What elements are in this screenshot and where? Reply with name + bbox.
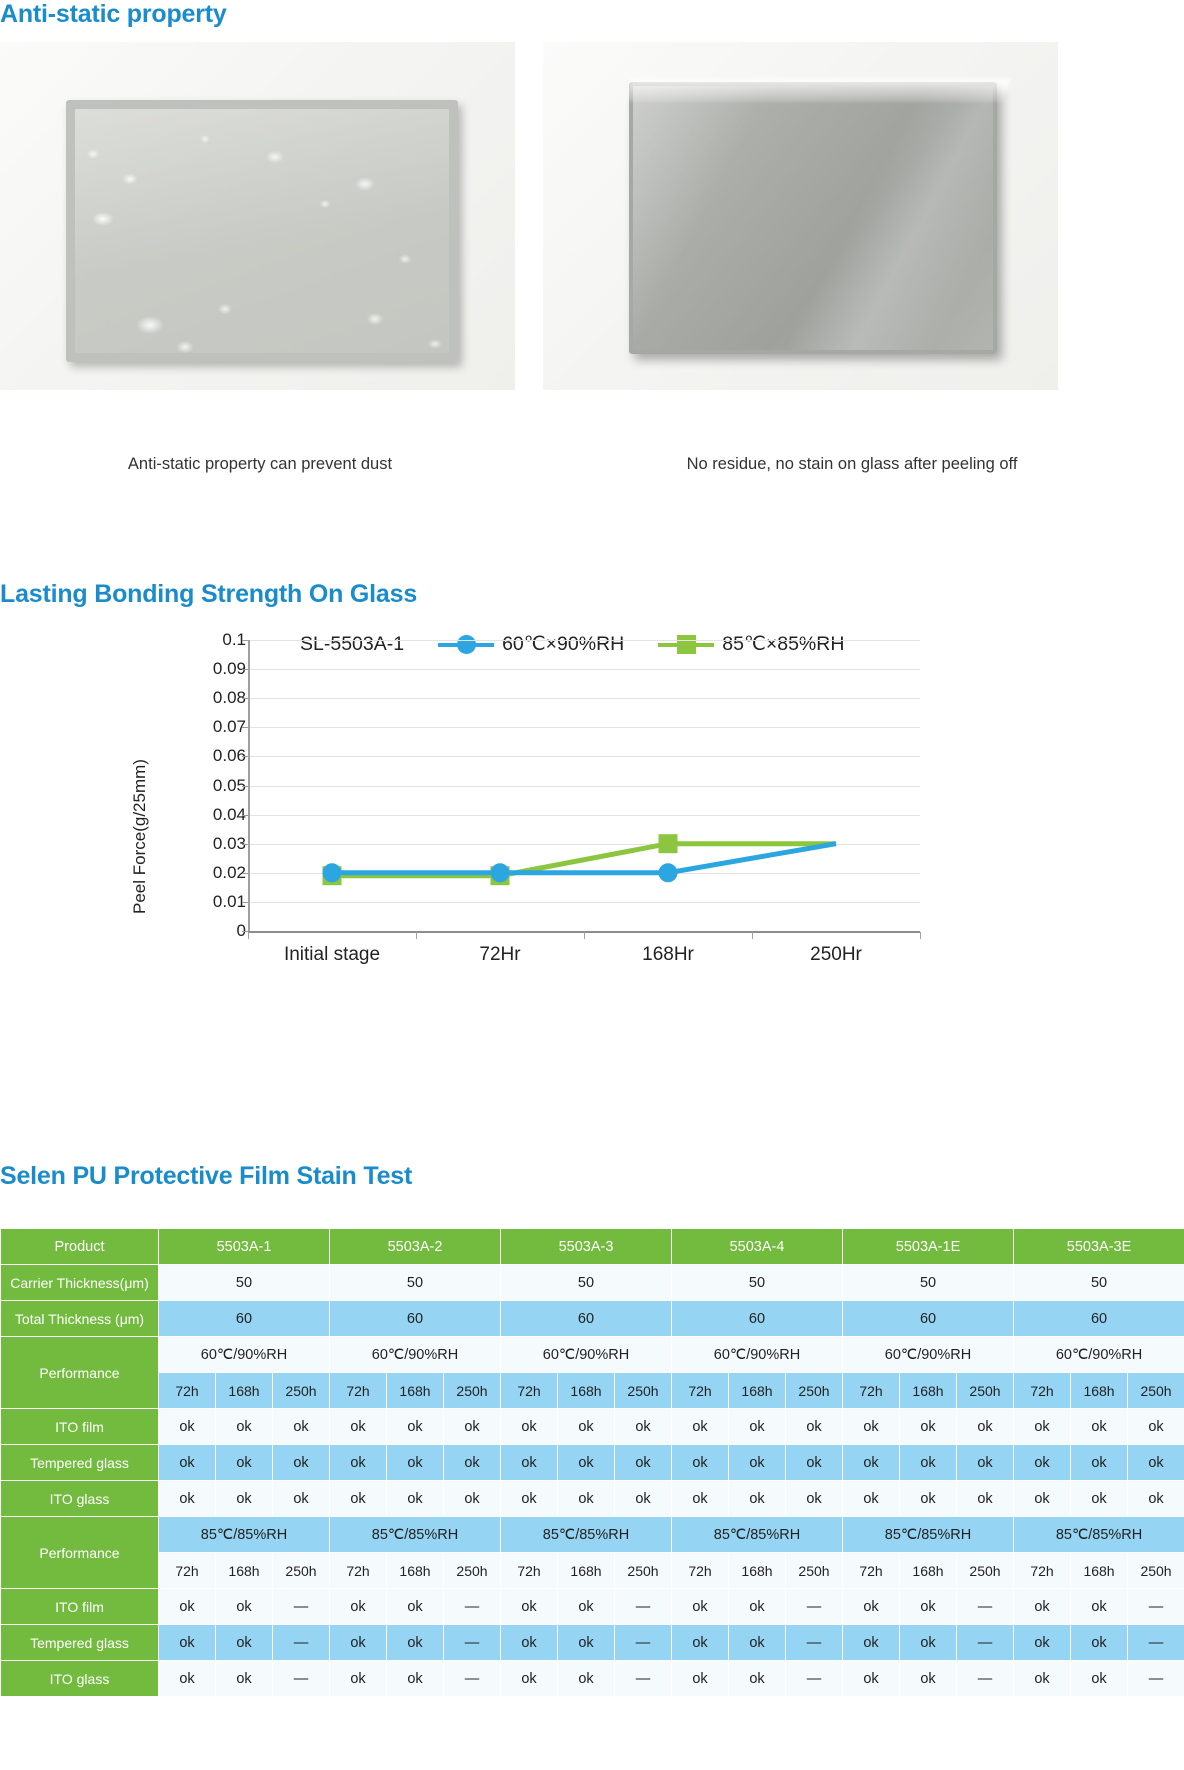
- result-cell: —: [1128, 1625, 1184, 1661]
- result-cell: ok: [159, 1589, 216, 1625]
- result-cell: —: [444, 1661, 501, 1697]
- row-label: ITO film: [1, 1589, 159, 1625]
- result-cell: ok: [615, 1445, 672, 1481]
- condition-cell: 60℃/90%RH: [501, 1337, 672, 1373]
- y-tick-label: 0: [160, 922, 246, 939]
- result-cell: —: [957, 1661, 1014, 1697]
- page-title-stain-test: Selen PU Protective Film Stain Test: [0, 1162, 412, 1191]
- caption-right: No residue, no stain on glass after peel…: [520, 455, 1184, 474]
- result-cell: ok: [558, 1625, 615, 1661]
- result-cell: ok: [1071, 1661, 1128, 1697]
- header-product-name: 5503A-3: [501, 1229, 672, 1265]
- time-header-cell: 72h: [1014, 1553, 1071, 1589]
- result-cell: ok: [786, 1445, 843, 1481]
- result-cell: ok: [387, 1481, 444, 1517]
- y-axis-line: [248, 640, 250, 932]
- result-cell: —: [615, 1661, 672, 1697]
- time-header-cell: 250h: [444, 1373, 501, 1409]
- time-header-cell: 72h: [330, 1373, 387, 1409]
- header-product-name: 5503A-1: [159, 1229, 330, 1265]
- result-cell: ok: [444, 1409, 501, 1445]
- x-tick-label: 250Hr: [752, 944, 920, 966]
- result-cell: ok: [900, 1625, 957, 1661]
- time-header-cell: 250h: [957, 1373, 1014, 1409]
- result-cell: ok: [1014, 1589, 1071, 1625]
- table-header-row: Product5503A-15503A-25503A-35503A-45503A…: [1, 1229, 1184, 1265]
- condition-cell: 60℃/90%RH: [1014, 1337, 1184, 1373]
- value-cell: 60: [501, 1301, 672, 1337]
- result-cell: ok: [558, 1589, 615, 1625]
- result-cell: ok: [501, 1481, 558, 1517]
- result-cell: ok: [387, 1445, 444, 1481]
- photo-dusty-glass: [0, 42, 515, 390]
- condition-cell: 85℃/85%RH: [843, 1517, 1014, 1553]
- result-cell: ok: [729, 1445, 786, 1481]
- x-axis-labels: Initial stage72Hr168Hr250Hr: [248, 944, 920, 966]
- row-ito-glass: ITO glassokokokokokokokokokokokokokokoko…: [1, 1481, 1184, 1517]
- row-label-performance: Performance: [1, 1337, 159, 1409]
- result-cell: ok: [900, 1661, 957, 1697]
- result-cell: ok: [444, 1481, 501, 1517]
- result-cell: ok: [501, 1661, 558, 1697]
- result-cell: ok: [672, 1625, 729, 1661]
- row-time-headers-1: 72h168h250h72h168h250h72h168h250h72h168h…: [1, 1373, 1184, 1409]
- result-cell: ok: [843, 1445, 900, 1481]
- result-cell: ok: [957, 1445, 1014, 1481]
- time-header-cell: 72h: [843, 1373, 900, 1409]
- result-cell: ok: [387, 1661, 444, 1697]
- result-cell: ok: [330, 1589, 387, 1625]
- x-tickmark: [752, 932, 753, 939]
- condition-cell: 60℃/90%RH: [159, 1337, 330, 1373]
- result-cell: ok: [558, 1445, 615, 1481]
- photo-clean-glass: [543, 42, 1058, 390]
- y-tick-label: 0.1: [160, 631, 246, 648]
- result-cell: ok: [843, 1481, 900, 1517]
- result-cell: ok: [900, 1445, 957, 1481]
- time-header-cell: 168h: [1071, 1373, 1128, 1409]
- result-cell: ok: [216, 1589, 273, 1625]
- value-cell: 60: [1014, 1301, 1184, 1337]
- time-header-cell: 250h: [786, 1373, 843, 1409]
- condition-cell: 60℃/90%RH: [672, 1337, 843, 1373]
- row-performance-condition-2: Performance85℃/85%RH85℃/85%RH85℃/85%RH85…: [1, 1517, 1184, 1553]
- result-cell: ok: [273, 1409, 330, 1445]
- time-header-cell: 72h: [330, 1553, 387, 1589]
- result-cell: ok: [1071, 1625, 1128, 1661]
- result-cell: ok: [843, 1661, 900, 1697]
- dust-specks: [75, 109, 449, 353]
- gridline: [248, 844, 920, 845]
- result-cell: —: [444, 1625, 501, 1661]
- condition-cell: 85℃/85%RH: [330, 1517, 501, 1553]
- result-cell: ok: [1071, 1481, 1128, 1517]
- row-total-thickness: Total Thickness (μm)606060606060: [1, 1301, 1184, 1337]
- page-title-antistatic: Anti-static property: [0, 0, 227, 29]
- time-header-cell: 72h: [843, 1553, 900, 1589]
- value-cell: 60: [330, 1301, 501, 1337]
- result-cell: ok: [1071, 1445, 1128, 1481]
- row-time-headers-2: 72h168h250h72h168h250h72h168h250h72h168h…: [1, 1553, 1184, 1589]
- gridline: [248, 669, 920, 670]
- x-tickmark: [584, 932, 585, 939]
- x-tickmark: [920, 932, 921, 939]
- header-product-name: 5503A-3E: [1014, 1229, 1184, 1265]
- plot-area: Peel Force(g/25mm) 0.10.090.080.070.060.…: [0, 632, 1184, 1022]
- x-tick-label: 168Hr: [584, 944, 752, 966]
- row-label: ITO film: [1, 1409, 159, 1445]
- y-tick-label: 0.02: [160, 864, 246, 881]
- result-cell: ok: [216, 1481, 273, 1517]
- row-tempered-glass: Tempered glassokokokokokokokokokokokokok…: [1, 1445, 1184, 1481]
- result-cell: ok: [216, 1625, 273, 1661]
- result-cell: ok: [1128, 1481, 1184, 1517]
- series-marker: [323, 866, 342, 885]
- condition-cell: 60℃/90%RH: [330, 1337, 501, 1373]
- result-cell: ok: [1014, 1481, 1071, 1517]
- result-cell: —: [786, 1661, 843, 1697]
- glass-reflection: [633, 86, 993, 350]
- result-cell: ok: [1014, 1625, 1071, 1661]
- row-ito-film: ITO filmokokokokokokokokokokokokokokokok…: [1, 1409, 1184, 1445]
- row-tempered-glass: Tempered glassokok—okok—okok—okok—okok—o…: [1, 1625, 1184, 1661]
- value-cell: 60: [672, 1301, 843, 1337]
- result-cell: ok: [273, 1481, 330, 1517]
- antistatic-photo-row: [0, 42, 1184, 390]
- result-cell: ok: [387, 1625, 444, 1661]
- result-cell: ok: [273, 1445, 330, 1481]
- result-cell: ok: [786, 1409, 843, 1445]
- result-cell: —: [273, 1661, 330, 1697]
- series-line: [332, 844, 836, 876]
- result-cell: ok: [1128, 1445, 1184, 1481]
- condition-cell: 85℃/85%RH: [159, 1517, 330, 1553]
- time-header-cell: 168h: [900, 1373, 957, 1409]
- time-header-cell: 72h: [672, 1373, 729, 1409]
- condition-cell: 85℃/85%RH: [672, 1517, 843, 1553]
- result-cell: ok: [159, 1481, 216, 1517]
- condition-cell: 85℃/85%RH: [501, 1517, 672, 1553]
- page-title-bonding: Lasting Bonding Strength On Glass: [0, 580, 417, 609]
- result-cell: ok: [501, 1445, 558, 1481]
- gridline: [248, 815, 920, 816]
- time-header-cell: 250h: [615, 1553, 672, 1589]
- result-cell: ok: [387, 1589, 444, 1625]
- result-cell: —: [444, 1589, 501, 1625]
- result-cell: ok: [501, 1409, 558, 1445]
- value-cell: 50: [330, 1265, 501, 1301]
- y-tick-label: 0.06: [160, 747, 246, 764]
- y-axis-ticks: 0.10.090.080.070.060.050.040.030.020.010: [160, 632, 246, 1022]
- result-cell: —: [273, 1589, 330, 1625]
- result-cell: —: [615, 1589, 672, 1625]
- value-cell: 60: [159, 1301, 330, 1337]
- value-cell: 50: [501, 1265, 672, 1301]
- result-cell: ok: [216, 1445, 273, 1481]
- result-cell: ok: [216, 1661, 273, 1697]
- value-cell: 50: [159, 1265, 330, 1301]
- x-tick-label: 72Hr: [416, 944, 584, 966]
- result-cell: ok: [330, 1661, 387, 1697]
- result-cell: ok: [672, 1589, 729, 1625]
- result-cell: ok: [387, 1409, 444, 1445]
- time-header-cell: 72h: [159, 1373, 216, 1409]
- result-cell: ok: [216, 1409, 273, 1445]
- result-cell: ok: [558, 1409, 615, 1445]
- result-cell: ok: [1071, 1409, 1128, 1445]
- result-cell: ok: [843, 1589, 900, 1625]
- value-cell: 50: [1014, 1265, 1184, 1301]
- row-label: Tempered glass: [1, 1625, 159, 1661]
- time-header-cell: 250h: [957, 1553, 1014, 1589]
- time-header-cell: 250h: [1128, 1373, 1184, 1409]
- time-header-cell: 168h: [216, 1373, 273, 1409]
- result-cell: ok: [672, 1661, 729, 1697]
- row-label-performance: Performance: [1, 1517, 159, 1589]
- row-label: Tempered glass: [1, 1445, 159, 1481]
- value-cell: 60: [843, 1301, 1014, 1337]
- result-cell: ok: [786, 1481, 843, 1517]
- result-cell: ok: [558, 1481, 615, 1517]
- result-cell: ok: [843, 1409, 900, 1445]
- row-performance-condition-1: Performance60℃/90%RH60℃/90%RH60℃/90%RH60…: [1, 1337, 1184, 1373]
- result-cell: ok: [729, 1481, 786, 1517]
- y-tick-label: 0.08: [160, 689, 246, 706]
- time-header-cell: 72h: [1014, 1373, 1071, 1409]
- gridline: [248, 873, 920, 874]
- y-tick-label: 0.03: [160, 835, 246, 852]
- result-cell: ok: [900, 1589, 957, 1625]
- y-tick-label: 0.07: [160, 718, 246, 735]
- time-header-cell: 168h: [387, 1553, 444, 1589]
- time-header-cell: 72h: [501, 1553, 558, 1589]
- time-header-cell: 168h: [558, 1553, 615, 1589]
- time-header-cell: 168h: [729, 1553, 786, 1589]
- y-tick-label: 0.05: [160, 777, 246, 794]
- time-header-cell: 250h: [615, 1373, 672, 1409]
- glass-plate-with-dust: [66, 100, 458, 362]
- time-header-cell: 250h: [1128, 1553, 1184, 1589]
- gridline: [248, 756, 920, 757]
- row-label: Total Thickness (μm): [1, 1301, 159, 1337]
- caption-left: Anti-static property can prevent dust: [0, 455, 520, 474]
- y-tick-label: 0.01: [160, 893, 246, 910]
- time-header-cell: 250h: [786, 1553, 843, 1589]
- result-cell: ok: [672, 1445, 729, 1481]
- time-header-cell: 168h: [558, 1373, 615, 1409]
- result-cell: ok: [1071, 1589, 1128, 1625]
- y-tick-label: 0.04: [160, 806, 246, 823]
- result-cell: ok: [672, 1481, 729, 1517]
- peel-force-chart: SL-5503A-1 60℃×90%RH 85℃×85%RH Peel Forc…: [0, 632, 1184, 1022]
- x-tick-label: Initial stage: [248, 944, 416, 966]
- header-product-name: 5503A-2: [330, 1229, 501, 1265]
- time-header-cell: 250h: [444, 1553, 501, 1589]
- result-cell: —: [957, 1589, 1014, 1625]
- result-cell: ok: [957, 1409, 1014, 1445]
- result-cell: ok: [501, 1625, 558, 1661]
- row-label: ITO glass: [1, 1661, 159, 1697]
- result-cell: ok: [729, 1409, 786, 1445]
- header-product-name: 5503A-4: [672, 1229, 843, 1265]
- gridline: [248, 640, 920, 641]
- result-cell: ok: [729, 1661, 786, 1697]
- result-cell: —: [786, 1625, 843, 1661]
- result-cell: —: [957, 1625, 1014, 1661]
- x-tickmark: [416, 932, 417, 939]
- result-cell: ok: [843, 1625, 900, 1661]
- row-ito-film: ITO filmokok—okok—okok—okok—okok—okok—: [1, 1589, 1184, 1625]
- time-header-cell: 72h: [159, 1553, 216, 1589]
- result-cell: ok: [900, 1409, 957, 1445]
- result-cell: —: [786, 1589, 843, 1625]
- gridline: [248, 786, 920, 787]
- gridline: [248, 902, 920, 903]
- time-header-cell: 168h: [729, 1373, 786, 1409]
- photo-captions: Anti-static property can prevent dust No…: [0, 455, 1184, 474]
- result-cell: ok: [1014, 1661, 1071, 1697]
- row-carrier-thickness: Carrier Thickness(μm)505050505050: [1, 1265, 1184, 1301]
- series-line: [332, 844, 836, 873]
- result-cell: ok: [1128, 1409, 1184, 1445]
- result-cell: —: [273, 1625, 330, 1661]
- condition-cell: 85℃/85%RH: [1014, 1517, 1184, 1553]
- result-cell: ok: [1014, 1445, 1071, 1481]
- result-cell: ok: [672, 1409, 729, 1445]
- time-header-cell: 168h: [900, 1553, 957, 1589]
- result-cell: ok: [900, 1481, 957, 1517]
- condition-cell: 60℃/90%RH: [843, 1337, 1014, 1373]
- result-cell: —: [615, 1625, 672, 1661]
- time-header-cell: 168h: [216, 1553, 273, 1589]
- glass-plate-clean: [629, 82, 997, 354]
- result-cell: ok: [558, 1661, 615, 1697]
- result-cell: ok: [615, 1409, 672, 1445]
- result-cell: ok: [159, 1409, 216, 1445]
- row-label: ITO glass: [1, 1481, 159, 1517]
- row-ito-glass: ITO glassokok—okok—okok—okok—okok—okok—: [1, 1661, 1184, 1697]
- result-cell: ok: [729, 1589, 786, 1625]
- stain-test-table: Product5503A-15503A-25503A-35503A-45503A…: [0, 1228, 1184, 1697]
- gridline: [248, 698, 920, 699]
- header-product-label: Product: [1, 1229, 159, 1265]
- time-header-cell: 168h: [387, 1373, 444, 1409]
- result-cell: ok: [330, 1409, 387, 1445]
- result-cell: ok: [729, 1625, 786, 1661]
- result-cell: ok: [615, 1481, 672, 1517]
- value-cell: 50: [672, 1265, 843, 1301]
- header-product-name: 5503A-1E: [843, 1229, 1014, 1265]
- result-cell: —: [1128, 1589, 1184, 1625]
- glass-sheen: [623, 78, 1011, 102]
- time-header-cell: 250h: [273, 1553, 330, 1589]
- time-header-cell: 72h: [672, 1553, 729, 1589]
- time-header-cell: 168h: [1071, 1553, 1128, 1589]
- result-cell: ok: [159, 1445, 216, 1481]
- time-header-cell: 72h: [501, 1373, 558, 1409]
- result-cell: ok: [159, 1625, 216, 1661]
- result-cell: ok: [444, 1445, 501, 1481]
- y-tick-label: 0.09: [160, 660, 246, 677]
- result-cell: ok: [330, 1481, 387, 1517]
- result-cell: ok: [501, 1589, 558, 1625]
- x-tickmark: [248, 932, 249, 939]
- result-cell: ok: [1014, 1409, 1071, 1445]
- series-marker: [491, 866, 510, 885]
- result-cell: ok: [330, 1445, 387, 1481]
- time-header-cell: 250h: [273, 1373, 330, 1409]
- result-cell: —: [1128, 1661, 1184, 1697]
- result-cell: ok: [957, 1481, 1014, 1517]
- result-cell: ok: [330, 1625, 387, 1661]
- gridline: [248, 727, 920, 728]
- result-cell: ok: [159, 1661, 216, 1697]
- value-cell: 50: [843, 1265, 1014, 1301]
- row-label: Carrier Thickness(μm): [1, 1265, 159, 1301]
